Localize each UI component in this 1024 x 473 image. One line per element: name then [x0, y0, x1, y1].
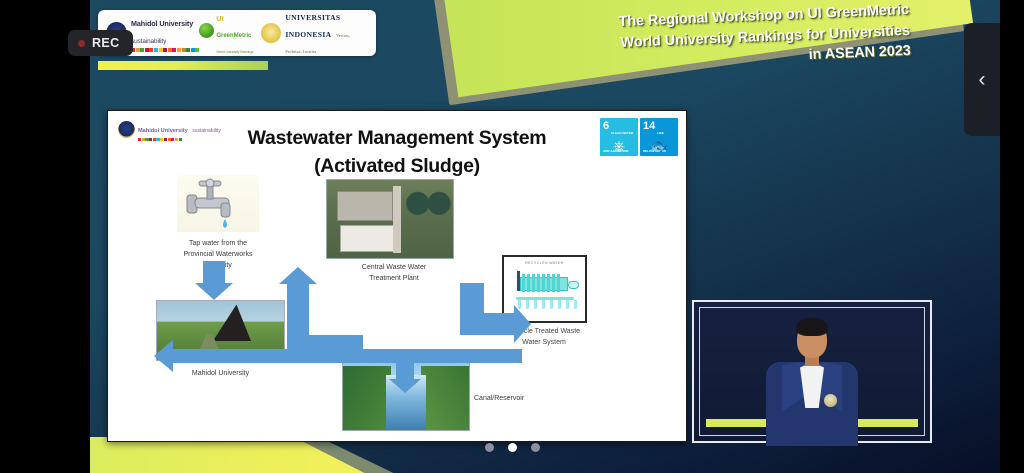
ui-line1: UNIVERSITAS: [285, 13, 340, 22]
chevron-left-icon: ‹: [979, 68, 986, 92]
presenter-video-tile[interactable]: [692, 300, 932, 443]
slide-pagination[interactable]: [0, 443, 1024, 452]
logo-universitas-indonesia: UNIVERSITAS INDONESIA Veritas, Probitas,…: [261, 8, 368, 58]
caption-campus: Mahidol University: [156, 369, 285, 380]
letterbox-left: [0, 0, 90, 473]
presenter-badge: [824, 394, 837, 407]
mahidol-name: Mahidol University: [131, 19, 193, 28]
outlet-loop: [568, 281, 579, 289]
greenmetric-sub: World University Rankings: [216, 50, 253, 54]
slide-title: Wastewater Management System (Activated …: [108, 125, 686, 180]
recycled-water-diagram-title: RECYCLED WATER: [508, 261, 581, 265]
webinar-screen: Mahidol University sustainability UI Gre…: [0, 0, 1024, 473]
greenmetric-name: GreenMetric: [216, 33, 251, 39]
accent-bar: [98, 61, 268, 70]
arrow-recycle-to-campus: [172, 349, 522, 363]
green-globe-icon: [199, 23, 214, 38]
slide-title-line-1: Wastewater Management System: [248, 127, 547, 149]
pagination-dot-3[interactable]: [531, 443, 540, 452]
canal-right-bank: [421, 366, 469, 430]
greenmetric-ui: UI: [216, 16, 223, 23]
organizer-logo-strip: Mahidol University sustainability UI Gre…: [98, 10, 376, 56]
letterbox-right: [1000, 0, 1024, 473]
presentation-stage: Mahidol University sustainability UI Gre…: [90, 0, 1000, 473]
pagination-dot-2[interactable]: [508, 443, 517, 452]
record-dot-icon: [78, 40, 85, 47]
aeration-bars: [522, 274, 560, 292]
slide-content[interactable]: Mahidol University sustainability 6 CLEA…: [107, 110, 687, 442]
arrow-plant-to-recycle-horizontal: [460, 313, 514, 335]
faucet-icon: [177, 175, 259, 232]
presenter-hair: [796, 318, 828, 336]
logo-ui-greenmetric: UI GreenMetric World University Rankings: [199, 9, 261, 57]
water-tap-photo: [177, 175, 259, 232]
recording-indicator: REC: [68, 30, 133, 56]
arrow-plant-to-canal: [396, 363, 414, 379]
caption-canal: Canal/Reservoir: [474, 394, 570, 405]
plant-building: [337, 191, 392, 221]
panel-collapse-button[interactable]: ‹: [964, 23, 1000, 136]
pagination-dot-1[interactable]: [485, 443, 494, 452]
mahidol-tagline: sustainability: [131, 38, 166, 45]
campus-building: [213, 305, 251, 342]
ui-line2: INDONESIA: [285, 30, 331, 39]
sdg-color-strip-icon: [131, 48, 199, 51]
plant-building-2: [340, 225, 400, 252]
plant-road: [393, 186, 402, 253]
workshop-title: The Regional Workshop on UI GreenMetric …: [569, 0, 911, 76]
aerial-plant-photo: [326, 179, 454, 259]
recording-label: REC: [92, 36, 120, 50]
canal-left-bank: [343, 366, 391, 430]
arrow-tap-to-campus: [203, 261, 225, 283]
caption-treatment-plant: Central Waste WaterTreatment Plant: [336, 263, 452, 285]
makara-icon: [261, 23, 281, 43]
